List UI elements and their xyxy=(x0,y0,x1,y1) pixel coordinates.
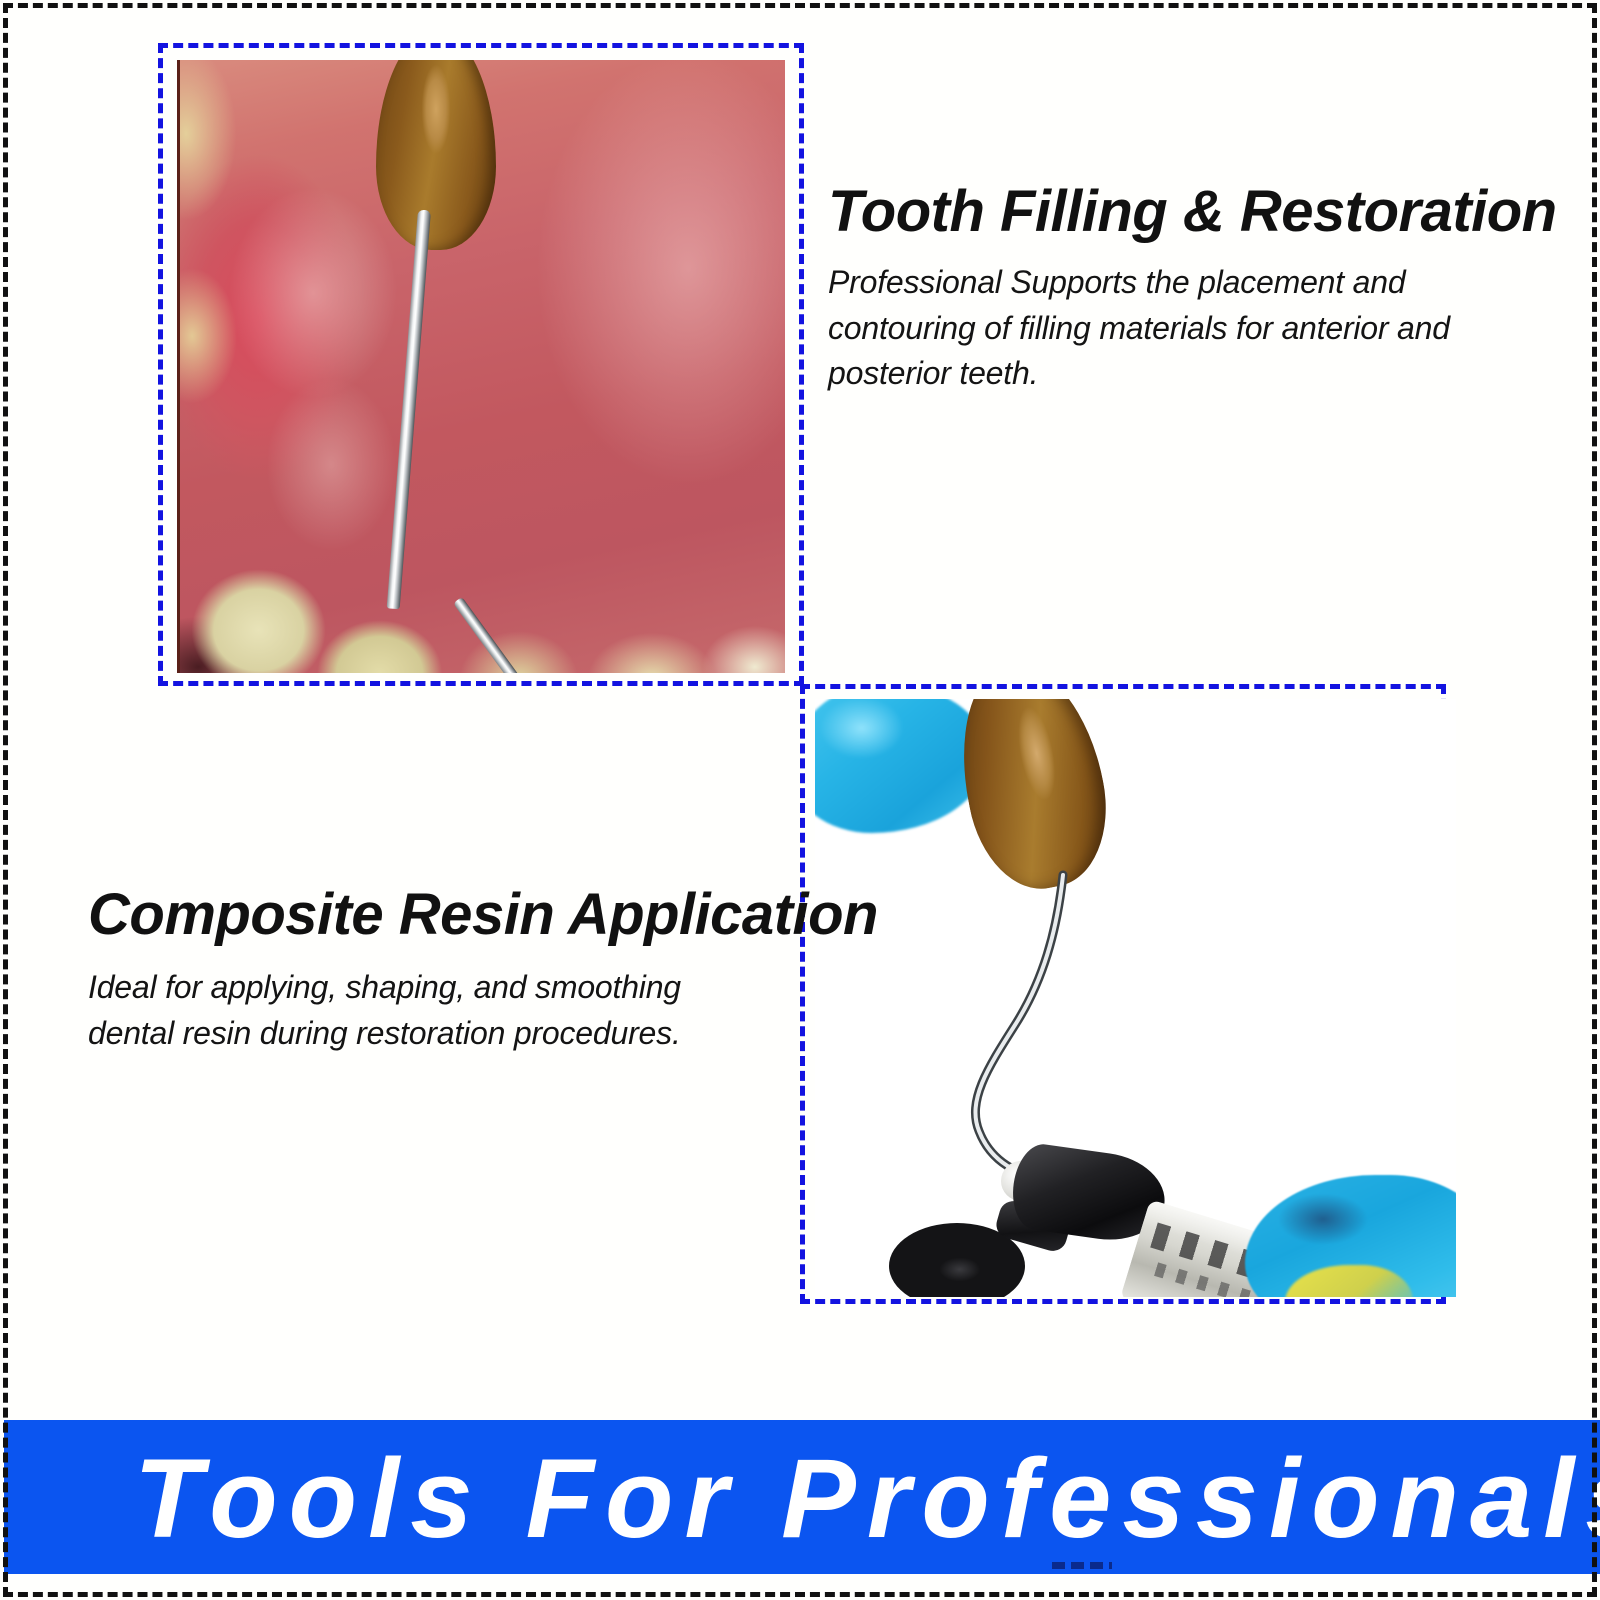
feature-description-composite-resin: Ideal for applying, shaping, and smoothi… xyxy=(88,965,768,1056)
product-infographic-page: Tooth Filling & Restoration Professional… xyxy=(0,0,1600,1600)
bottom-banner: Tools For Professionals xyxy=(4,1420,1600,1574)
photo-frame-tooth-filling xyxy=(158,43,804,686)
feature-title-tooth-filling: Tooth Filling & Restoration xyxy=(828,181,1534,242)
composite-syringe-photo xyxy=(815,699,1456,1297)
probe-tip-icon xyxy=(453,597,521,673)
curved-probe-icon xyxy=(875,869,1175,1199)
instrument-handle-icon xyxy=(376,60,496,250)
feature-text-tooth-filling: Tooth Filling & Restoration Professional… xyxy=(828,181,1534,397)
banner-dashed-artifact xyxy=(1052,1562,1112,1569)
banner-headline: Tools For Professionals xyxy=(134,1434,1600,1564)
feature-title-composite-resin: Composite Resin Application xyxy=(88,884,768,945)
probe-shaft-icon xyxy=(387,209,431,609)
feature-text-composite-resin: Composite Resin Application Ideal for ap… xyxy=(88,884,768,1056)
intraoral-photo xyxy=(177,60,785,673)
gloved-hand-top-icon xyxy=(815,699,987,833)
photo-frame-composite-resin xyxy=(800,684,1446,1304)
feature-description-tooth-filling: Professional Supports the placement and … xyxy=(828,260,1534,396)
